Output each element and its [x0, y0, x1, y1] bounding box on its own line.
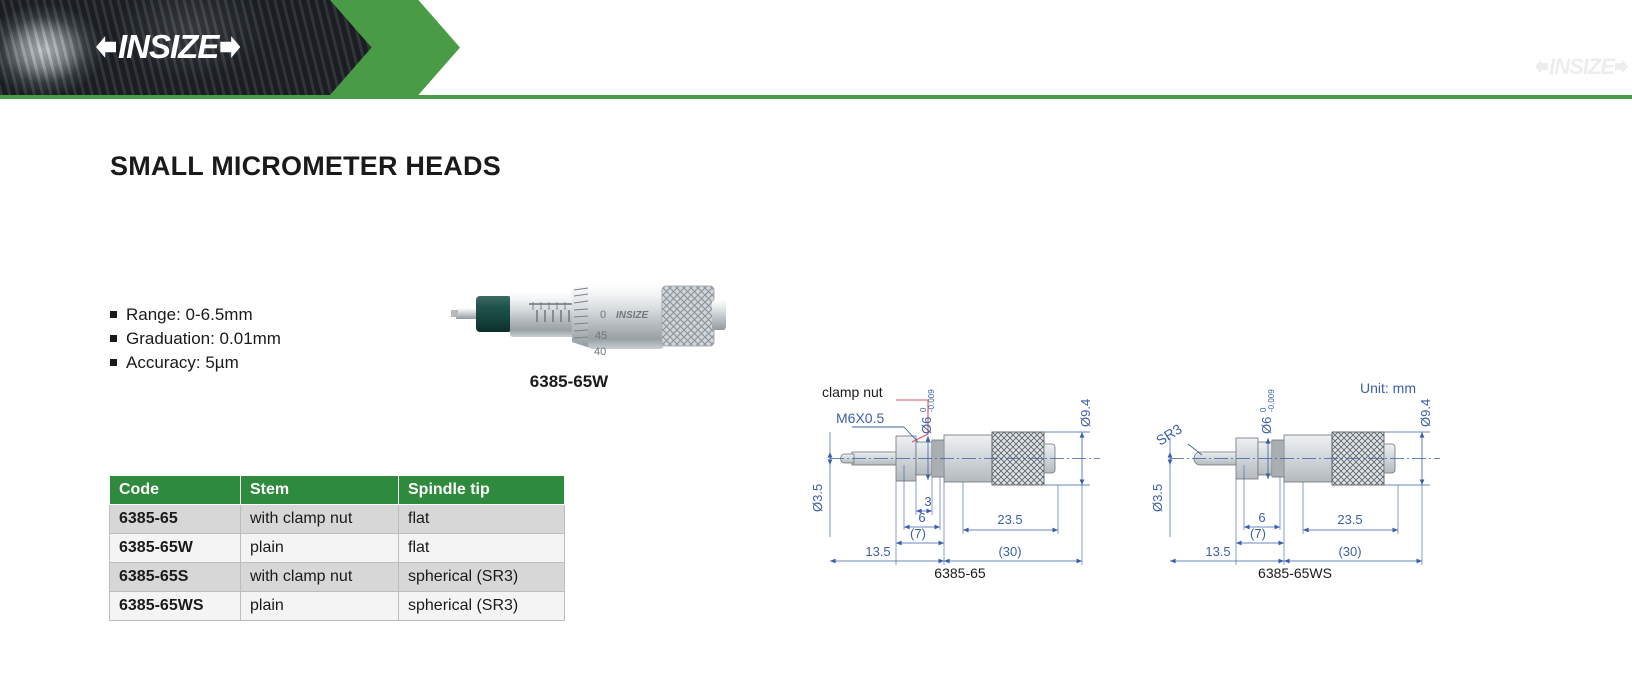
column-header-code: Code [110, 476, 241, 505]
cell-code: 6385-65W [110, 534, 241, 563]
dim-dia-9-4: Ø9.4 [1418, 399, 1433, 427]
dim-6: 6 [1258, 510, 1265, 525]
spec-range: Range: 0-6.5mm [126, 303, 253, 327]
callout-sr3: SR3 [1153, 420, 1185, 448]
technical-drawings-block: Unit: mm [800, 372, 1480, 587]
product-variants-table: Code Stem Spindle tip 6385-65 with clamp… [109, 475, 565, 621]
svg-text:40: 40 [594, 346, 606, 358]
svg-text:Ø6: Ø6 [919, 417, 934, 434]
svg-text:0: 0 [600, 309, 606, 321]
specification-list: Range: 0-6.5mm Graduation: 0.01mm Accura… [110, 303, 281, 375]
arrow-right-icon [220, 34, 240, 60]
svg-text:Ø9.4: Ø9.4 [1078, 399, 1093, 427]
dim-dia-6: Ø6 0 -0.009 [1259, 389, 1276, 434]
micrometer-head-photo: 0 45 40 INSIZE [404, 260, 734, 372]
insize-logo: INSIZE [96, 34, 240, 60]
table-header-row: Code Stem Spindle tip [110, 476, 565, 505]
cell-code: 6385-65S [110, 563, 241, 592]
dim-dia-9-4: Ø9.4 [1078, 399, 1093, 427]
dim-dia-3-5: Ø3.5 [1150, 484, 1165, 512]
cell-code: 6385-65 [110, 505, 241, 534]
dim-7: (7) [1250, 526, 1266, 541]
dim-dia-6: Ø6 0 -0.009 [919, 389, 936, 434]
arrow-left-icon [96, 34, 116, 60]
product-caption: 6385-65W [404, 372, 734, 392]
drawing-6385-65: clamp nut M6X0.5 Ø6 0 -0.009 Ø3.5 Ø9.4 [800, 372, 1130, 572]
drawing-caption-right: 6385-65WS [1225, 565, 1365, 581]
cell-stem: plain [241, 534, 399, 563]
cell-tip: spherical (SR3) [399, 592, 565, 621]
spec-graduation: Graduation: 0.01mm [126, 327, 281, 351]
arrow-left-icon [1535, 58, 1548, 75]
cell-stem: with clamp nut [241, 505, 399, 534]
column-header-stem: Stem [241, 476, 399, 505]
svg-text:45: 45 [595, 330, 607, 342]
list-item: Accuracy: 5µm [110, 351, 281, 375]
svg-text:SR3: SR3 [1153, 420, 1185, 448]
dim-13-5: 13.5 [1205, 544, 1230, 559]
arrow-right-icon [1615, 58, 1628, 75]
dim-3: 3 [924, 494, 931, 509]
product-datasheet-page: INSIZE INSIZE SMALL MICROMETER HEADS Ran… [0, 0, 1632, 694]
insize-watermark-logo: INSIZE [1535, 58, 1628, 75]
table-row: 6385-65 with clamp nut flat [110, 505, 565, 534]
svg-text:Ø3.5: Ø3.5 [810, 484, 825, 512]
svg-text:Ø9.4: Ø9.4 [1418, 399, 1433, 427]
dim-30: (30) [998, 544, 1021, 559]
square-bullet-icon [110, 311, 117, 318]
page-title: SMALL MICROMETER HEADS [110, 151, 501, 182]
svg-text:INSIZE: INSIZE [616, 310, 649, 321]
dim-23-5: 23.5 [997, 512, 1022, 527]
svg-text:-0.009: -0.009 [1267, 389, 1276, 412]
product-photo-block: 0 45 40 INSIZE 6385-65W [404, 260, 734, 390]
cell-tip: flat [399, 534, 565, 563]
drawing-caption-left: 6385-65 [900, 565, 1020, 581]
table-row: 6385-65S with clamp nut spherical (SR3) [110, 563, 565, 592]
cell-stem: with clamp nut [241, 563, 399, 592]
insize-logo-text: INSIZE [118, 34, 218, 60]
dim-6: 6 [918, 510, 925, 525]
square-bullet-icon [110, 335, 117, 342]
svg-text:Ø6: Ø6 [1259, 417, 1274, 434]
callout-clamp-nut: clamp nut [822, 384, 883, 400]
dim-13-5: 13.5 [865, 544, 890, 559]
list-item: Range: 0-6.5mm [110, 303, 281, 327]
list-item: Graduation: 0.01mm [110, 327, 281, 351]
spec-accuracy: Accuracy: 5µm [126, 351, 239, 375]
dim-dia-3-5: Ø3.5 [810, 484, 825, 512]
dim-23-5: 23.5 [1337, 512, 1362, 527]
square-bullet-icon [110, 359, 117, 366]
cell-code: 6385-65WS [110, 592, 241, 621]
cell-stem: plain [241, 592, 399, 621]
dim-30: (30) [1338, 544, 1361, 559]
svg-text:Ø3.5: Ø3.5 [1150, 484, 1165, 512]
insize-watermark-text: INSIZE [1549, 58, 1614, 75]
drawing-6385-65WS: SR3 Ø6 0 -0.009 Ø3.5 Ø9.4 [1140, 372, 1470, 572]
svg-text:-0.009: -0.009 [927, 389, 936, 412]
header-green-rule [0, 95, 1632, 99]
table-row: 6385-65WS plain spherical (SR3) [110, 592, 565, 621]
cell-tip: flat [399, 505, 565, 534]
cell-tip: spherical (SR3) [399, 563, 565, 592]
dim-7: (7) [910, 526, 926, 541]
callout-thread: M6X0.5 [836, 410, 884, 426]
column-header-spindle-tip: Spindle tip [399, 476, 565, 505]
table-row: 6385-65W plain flat [110, 534, 565, 563]
page-header: INSIZE INSIZE [0, 0, 1632, 99]
